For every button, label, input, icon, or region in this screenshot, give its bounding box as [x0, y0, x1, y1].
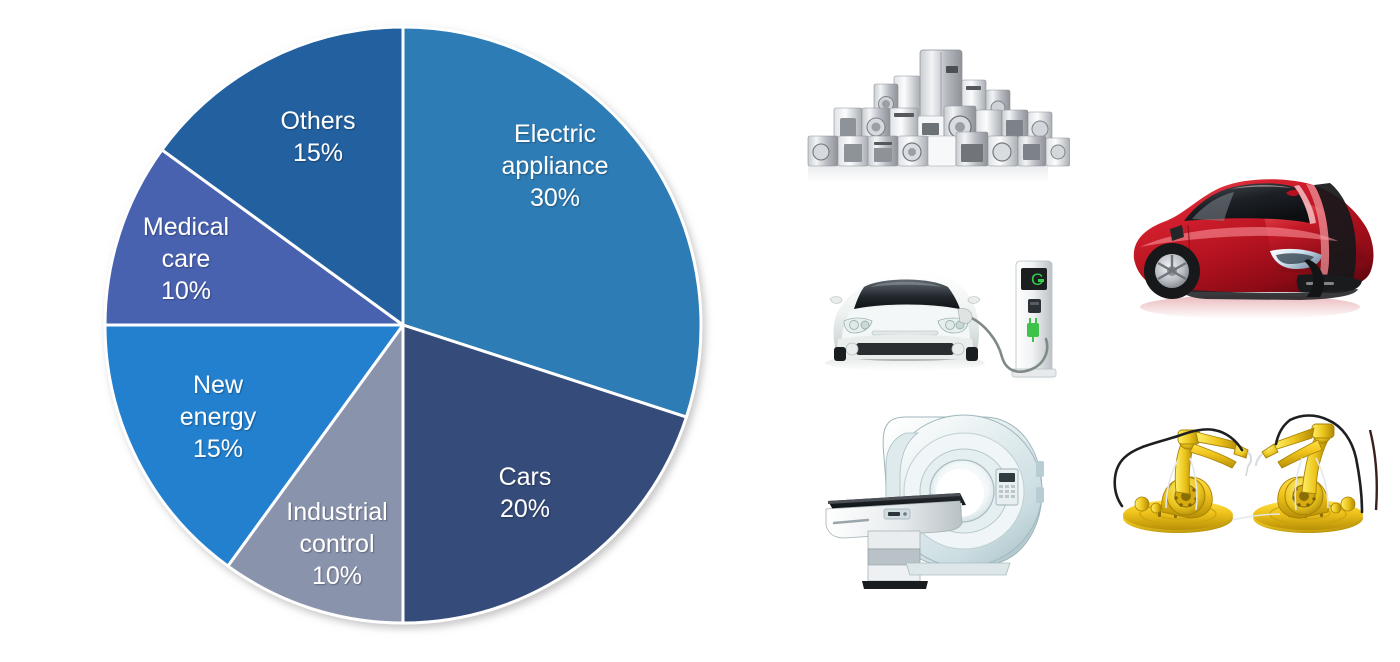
home-appliances-stack-image	[790, 28, 1070, 188]
ct-scanner-image	[810, 405, 1060, 595]
slide-root: Electricappliance30%Cars20%Industrialcon…	[0, 0, 1400, 662]
pie-chart-panel: Electricappliance30%Cars20%Industrialcon…	[0, 0, 720, 662]
electric-car-charging-image: C	[820, 243, 1085, 383]
product-images-panel: C	[720, 0, 1400, 662]
pie-slices	[105, 27, 701, 623]
industrial-robot-arms-image	[1090, 400, 1380, 545]
red-sports-car-image	[1110, 155, 1385, 330]
pie-chart: Electricappliance30%Cars20%Industrialcon…	[0, 0, 720, 662]
